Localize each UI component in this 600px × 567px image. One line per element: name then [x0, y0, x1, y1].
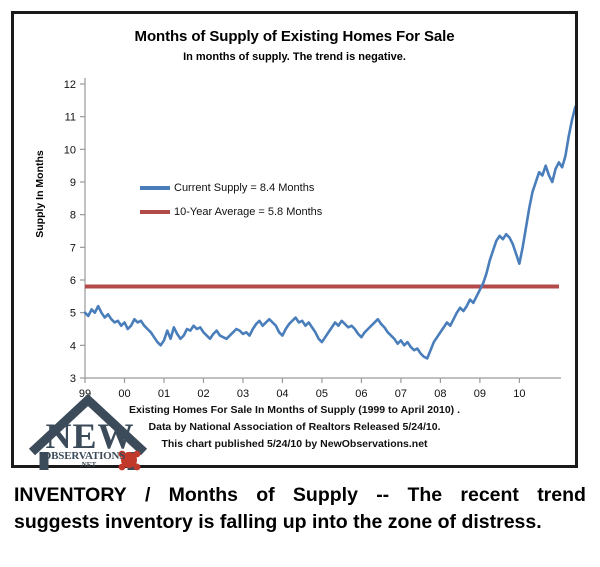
y-axis-tick-label: 11 — [65, 112, 76, 124]
caption-word: trend — [537, 482, 586, 509]
caption-word: Months — [169, 482, 238, 509]
chart-card: Months of Supply of Existing Homes For S… — [11, 11, 578, 468]
legend-swatch-ten-year-average — [140, 210, 170, 214]
caption-word: of — [256, 482, 274, 509]
logo-text-net: .NET — [80, 461, 96, 469]
caption-word: / — [145, 482, 150, 509]
caption-word: The — [407, 482, 442, 509]
legend-label-current-supply: Current Supply = 8.4 Months — [174, 182, 314, 194]
y-axis-tick-label: 6 — [70, 275, 76, 287]
logo-text-new: NEW — [42, 418, 138, 454]
caption-word: recent — [460, 482, 519, 509]
x-axis-tick-label: 09 — [474, 388, 486, 400]
new-observations-logo: NEW OBSERVATIONS .NET — [28, 384, 148, 479]
x-axis-tick-label: 05 — [316, 388, 328, 400]
legend-item-current-supply: Current Supply = 8.4 Months — [140, 176, 322, 200]
legend-item-ten-year-average: 10-Year Average = 5.8 Months — [140, 200, 322, 224]
x-axis-tick-label: 08 — [434, 388, 446, 400]
y-axis-tick-label: 9 — [70, 177, 76, 189]
chart-legend: Current Supply = 8.4 Months 10-Year Aver… — [140, 176, 322, 224]
caption-word: -- — [376, 482, 389, 509]
y-axis-tick-label: 8 — [70, 210, 76, 222]
legend-swatch-current-supply — [140, 186, 170, 190]
supply-series-line — [85, 107, 575, 359]
x-axis-tick-label: 02 — [197, 388, 209, 400]
x-axis-tick-label: 01 — [158, 388, 170, 400]
y-axis-tick-label: 7 — [70, 242, 76, 254]
caption-word: Supply — [293, 482, 358, 509]
y-axis-tick-label: 10 — [64, 144, 76, 156]
x-axis-tick-label: 03 — [237, 388, 249, 400]
caption-line-2: suggests inventory is falling up into th… — [14, 509, 586, 536]
caption-word: INVENTORY — [14, 482, 127, 509]
x-axis-tick-label: 10 — [513, 388, 525, 400]
caption-block: INVENTORY/MonthsofSupply--Therecenttrend… — [14, 482, 586, 536]
x-axis-tick-label: 04 — [276, 388, 288, 400]
x-axis-tick-label: 06 — [355, 388, 367, 400]
y-axis-tick-label: 4 — [70, 340, 76, 352]
caption-line-1: INVENTORY/MonthsofSupply--Therecenttrend — [14, 482, 586, 509]
screenshot-root: Months of Supply of Existing Homes For S… — [0, 0, 600, 567]
y-axis-tick-label: 12 — [64, 79, 76, 91]
x-axis-tick-label: 07 — [395, 388, 407, 400]
y-axis-tick-label: 5 — [70, 308, 76, 320]
legend-label-ten-year-average: 10-Year Average = 5.8 Months — [174, 206, 322, 218]
